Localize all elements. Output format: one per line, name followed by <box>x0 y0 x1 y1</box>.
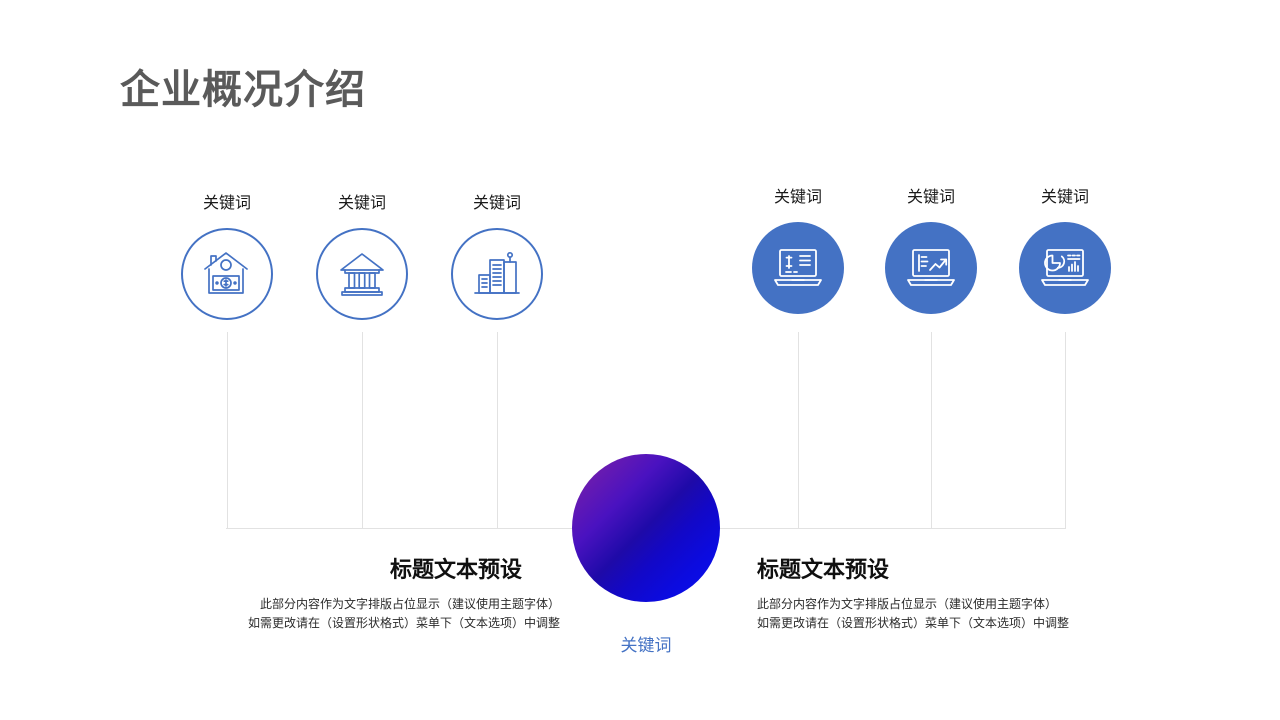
node-left-3[interactable]: 关键词 <box>442 196 552 320</box>
center-label: 关键词 <box>572 631 720 656</box>
slide-canvas: 企业概况介绍 关键词 <box>0 0 1280 720</box>
connector-stem-1 <box>227 332 228 528</box>
connector-stem-3 <box>497 332 498 528</box>
center-gradient-circle[interactable] <box>572 454 720 602</box>
laptop-trend-up-icon <box>905 245 957 291</box>
city-buildings-icon <box>471 248 523 300</box>
left-block-line-1: 此部分内容作为文字排版占位显示（建议使用主题字体） <box>190 595 560 614</box>
node-label: 关键词 <box>442 196 552 212</box>
node-right-2[interactable]: 关键词 <box>876 190 986 314</box>
right-block-heading: 标题文本预设 <box>757 557 1127 583</box>
right-block-line-1: 此部分内容作为文字排版占位显示（建议使用主题字体） <box>757 595 1127 614</box>
connector-stem-4 <box>798 332 799 528</box>
node-left-1[interactable]: 关键词 <box>172 196 282 320</box>
house-money-icon <box>200 249 254 299</box>
node-circle-outline[interactable] <box>316 228 408 320</box>
page-title: 企业概况介绍 <box>120 66 366 114</box>
node-right-1[interactable]: 关键词 <box>743 190 853 314</box>
left-block-line-2: 如需更改请在（设置形状格式）菜单下（文本选项）中调整 <box>190 614 560 633</box>
node-circle-outline[interactable] <box>451 228 543 320</box>
node-label: 关键词 <box>1010 190 1120 206</box>
node-left-2[interactable]: 关键词 <box>307 196 417 320</box>
node-circle-filled[interactable] <box>752 222 844 314</box>
left-text-block: 标题文本预设 此部分内容作为文字排版占位显示（建议使用主题字体） 如需更改请在（… <box>190 557 560 633</box>
node-circle-filled[interactable] <box>1019 222 1111 314</box>
laptop-pie-chart-icon <box>1039 245 1091 291</box>
node-right-3[interactable]: 关键词 <box>1010 190 1120 314</box>
node-circle-outline[interactable] <box>181 228 273 320</box>
connector-stem-5 <box>931 332 932 528</box>
node-label: 关键词 <box>172 196 282 212</box>
connector-stem-2 <box>362 332 363 528</box>
bank-building-icon <box>336 250 388 298</box>
right-text-block: 标题文本预设 此部分内容作为文字排版占位显示（建议使用主题字体） 如需更改请在（… <box>757 557 1127 633</box>
left-block-heading: 标题文本预设 <box>190 557 560 583</box>
node-label: 关键词 <box>876 190 986 206</box>
node-label: 关键词 <box>743 190 853 206</box>
right-block-line-2: 如需更改请在（设置形状格式）菜单下（文本选项）中调整 <box>757 614 1127 633</box>
node-label: 关键词 <box>307 196 417 212</box>
node-circle-filled[interactable] <box>885 222 977 314</box>
connector-stem-6 <box>1065 332 1066 528</box>
laptop-dollar-icon <box>772 245 824 291</box>
